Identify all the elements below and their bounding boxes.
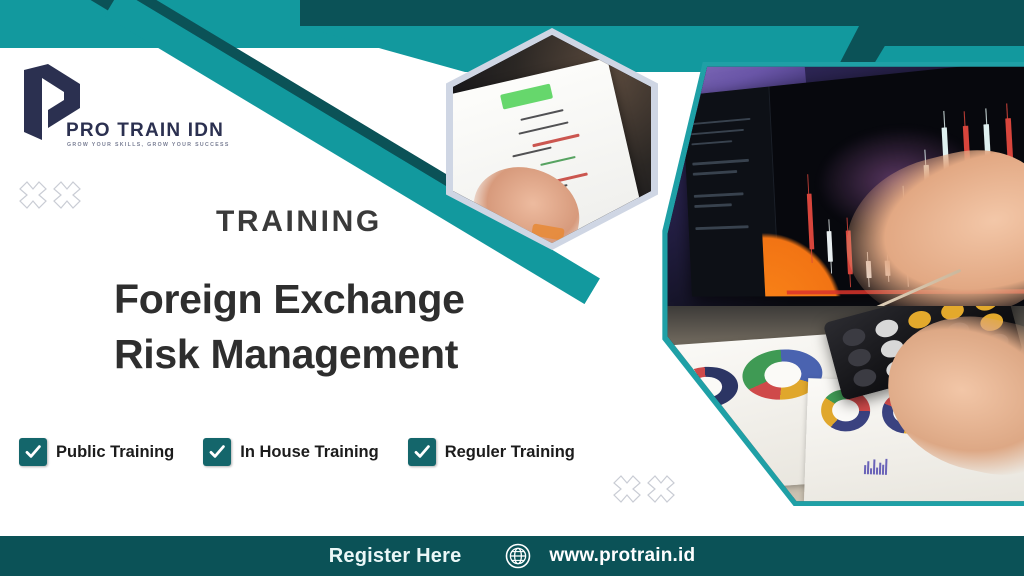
- photo-financial-reports: [628, 306, 1024, 506]
- website-url[interactable]: www.protrain.id: [549, 545, 695, 567]
- check-icon: [24, 443, 42, 461]
- hexagon-photo-sketching-notes: [453, 35, 651, 243]
- checkbox-reguler[interactable]: [408, 438, 436, 466]
- page-title: Foreign Exchange Risk Management: [114, 272, 465, 381]
- top-dark-teal-band: [300, 0, 1024, 26]
- training-option-reguler[interactable]: Reguler Training: [408, 438, 575, 466]
- training-options-list: Public Training In House Training Regule…: [19, 438, 575, 466]
- photo-collage-frame: [628, 62, 1024, 506]
- footer-content: Register Here www.protrain.id: [329, 543, 696, 569]
- training-option-label: Reguler Training: [445, 443, 575, 462]
- photo-collage: [628, 62, 1024, 506]
- x-cross-icon: [646, 474, 676, 504]
- decor-xx-motif-left: [18, 180, 82, 210]
- photo-trading-chart: [628, 62, 1024, 311]
- footer-bar: Register Here www.protrain.id: [0, 536, 1024, 576]
- brand-name: PRO TRAIN IDN: [66, 120, 224, 142]
- x-cross-icon: [52, 180, 82, 210]
- globe-icon: [505, 543, 531, 569]
- check-icon: [413, 443, 431, 461]
- x-cross-icon: [18, 180, 48, 210]
- title-line-1: Foreign Exchange: [114, 276, 465, 322]
- register-cta[interactable]: Register Here: [329, 545, 462, 568]
- brand-tagline: GROW YOUR SKILLS, GROW YOUR SUCCESS: [67, 142, 230, 148]
- training-promo-banner: PRO TRAIN IDN GROW YOUR SKILLS, GROW YOU…: [0, 0, 1024, 576]
- training-option-label: In House Training: [240, 443, 378, 462]
- kicker-training: TRAINING: [216, 205, 382, 239]
- check-icon: [208, 443, 226, 461]
- training-option-label: Public Training: [56, 443, 174, 462]
- checkbox-in-house[interactable]: [203, 438, 231, 466]
- decor-xx-motif-bottom: [612, 474, 676, 504]
- training-option-public[interactable]: Public Training: [19, 438, 174, 466]
- photo-orange-arc: [762, 213, 850, 296]
- training-option-in-house[interactable]: In House Training: [203, 438, 378, 466]
- checkbox-public[interactable]: [19, 438, 47, 466]
- x-cross-icon: [612, 474, 642, 504]
- brand-logo: PRO TRAIN IDN GROW YOUR SKILLS, GROW YOU…: [18, 62, 228, 167]
- title-line-2: Risk Management: [114, 327, 465, 382]
